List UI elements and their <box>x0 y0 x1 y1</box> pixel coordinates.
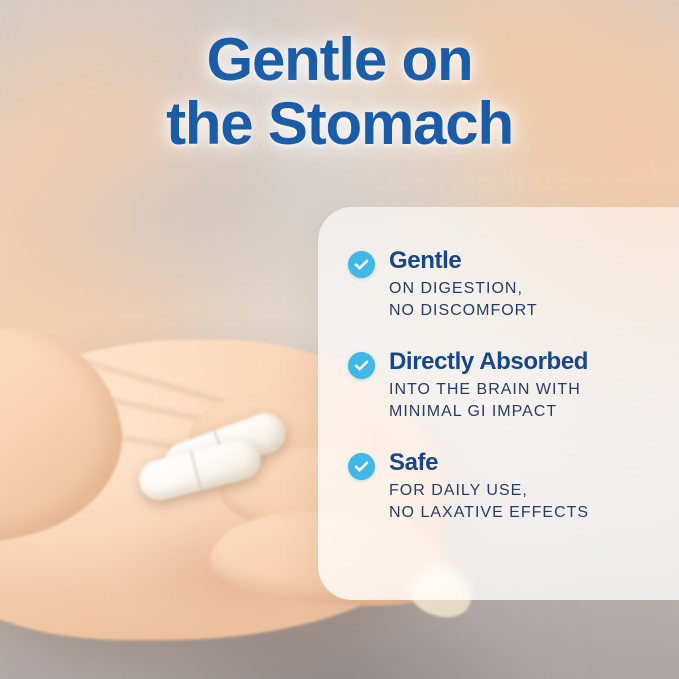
feature-item-directly-absorbed: Directly Absorbed INTO THE BRAIN WITH MI… <box>348 349 666 423</box>
feature-text: Safe FOR DAILY USE, NO LAXATIVE EFFECTS <box>389 450 666 524</box>
headline-line-1: Gentle on <box>0 28 679 92</box>
feature-title: Directly Absorbed <box>389 349 666 375</box>
feature-subtitle-line: NO LAXATIVE EFFECTS <box>389 502 666 524</box>
feature-subtitle-line: INTO THE BRAIN WITH <box>389 379 666 401</box>
feature-item-gentle: Gentle ON DIGESTION, NO DISCOMFORT <box>348 248 666 322</box>
feature-text: Gentle ON DIGESTION, NO DISCOMFORT <box>389 248 666 322</box>
feature-list: Gentle ON DIGESTION, NO DISCOMFORT Direc… <box>348 248 666 524</box>
feature-item-safe: Safe FOR DAILY USE, NO LAXATIVE EFFECTS <box>348 450 666 524</box>
capsule-seam <box>190 451 202 490</box>
feature-subtitle-line: MINIMAL GI IMPACT <box>389 401 666 423</box>
feature-subtitle: ON DIGESTION, NO DISCOMFORT <box>389 278 666 322</box>
feature-title: Safe <box>389 450 666 476</box>
check-circle-icon <box>348 352 375 379</box>
feature-subtitle-line: NO DISCOMFORT <box>389 300 666 322</box>
feature-subtitle: FOR DAILY USE, NO LAXATIVE EFFECTS <box>389 480 666 524</box>
feature-subtitle: INTO THE BRAIN WITH MINIMAL GI IMPACT <box>389 379 666 423</box>
headline: Gentle on the Stomach <box>0 28 679 156</box>
feature-text: Directly Absorbed INTO THE BRAIN WITH MI… <box>389 349 666 423</box>
check-circle-icon <box>348 251 375 278</box>
product-feature-banner: Gentle on the Stomach Gentle ON DIGESTIO… <box>0 0 679 679</box>
feature-subtitle-line: ON DIGESTION, <box>389 278 666 300</box>
feature-subtitle-line: FOR DAILY USE, <box>389 480 666 502</box>
check-circle-icon <box>348 453 375 480</box>
feature-title: Gentle <box>389 248 666 274</box>
headline-line-2: the Stomach <box>0 92 679 156</box>
